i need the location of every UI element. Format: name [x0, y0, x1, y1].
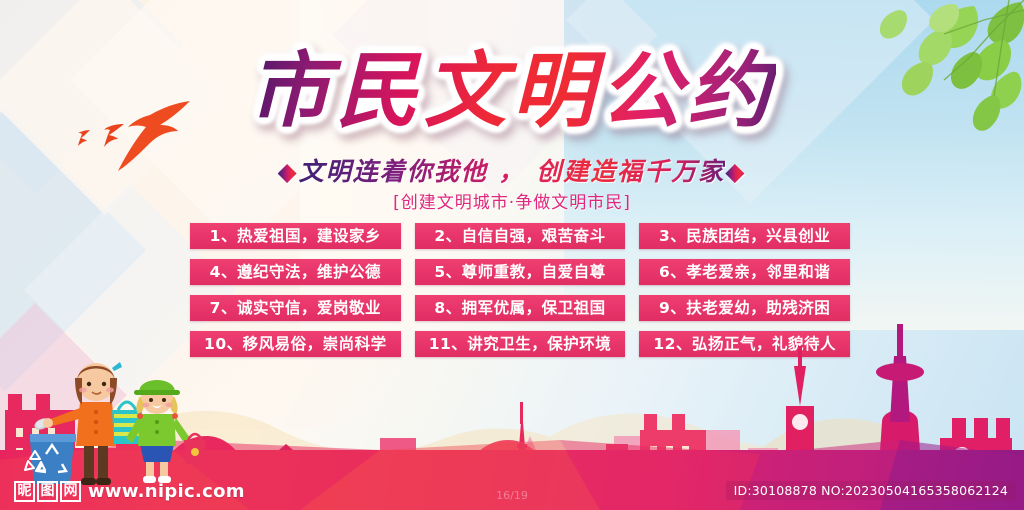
poster-subtitle-wrap: ◆文明连着你我他 ， 创建造福千万家◆: [0, 152, 1024, 188]
subtitle-bullet-right: ◆: [725, 157, 746, 186]
convention-item[interactable]: 4、遵纪守法，维护公德: [190, 259, 401, 285]
convention-item[interactable]: 6、孝老爱亲，邻里和谐: [639, 259, 850, 285]
poster-title-wrap: 市民文明公约: [0, 48, 1024, 137]
image-id-label: ID:30108878 NO:20230504165358062124: [726, 481, 1016, 500]
convention-item[interactable]: 1、热爱祖国，建设家乡: [190, 223, 401, 249]
poster-subtitle: 文明连着你我他 ， 创建造福千万家: [299, 152, 725, 188]
poster-tagline-wrap: [创建文明城市·争做文明市民]: [0, 188, 1024, 213]
poster-tagline: [创建文明城市·争做文明市民]: [393, 188, 631, 213]
page-title: 市民文明公约: [248, 48, 776, 137]
convention-item[interactable]: 2、自信自强，艰苦奋斗: [415, 223, 626, 249]
poster-canvas: 市民文明公约 ◆文明连着你我他 ， 创建造福千万家◆ [创建文明城市·争做文明市…: [0, 0, 1024, 510]
recycle-icon: [20, 448, 50, 474]
convention-item[interactable]: 3、民族团结，兴县创业: [639, 223, 850, 249]
subtitle-bullet-left: ◆: [278, 157, 299, 186]
mother-and-child-illustration: [28, 348, 228, 488]
convention-item[interactable]: 5、尊师重教，自爱自尊: [415, 259, 626, 285]
